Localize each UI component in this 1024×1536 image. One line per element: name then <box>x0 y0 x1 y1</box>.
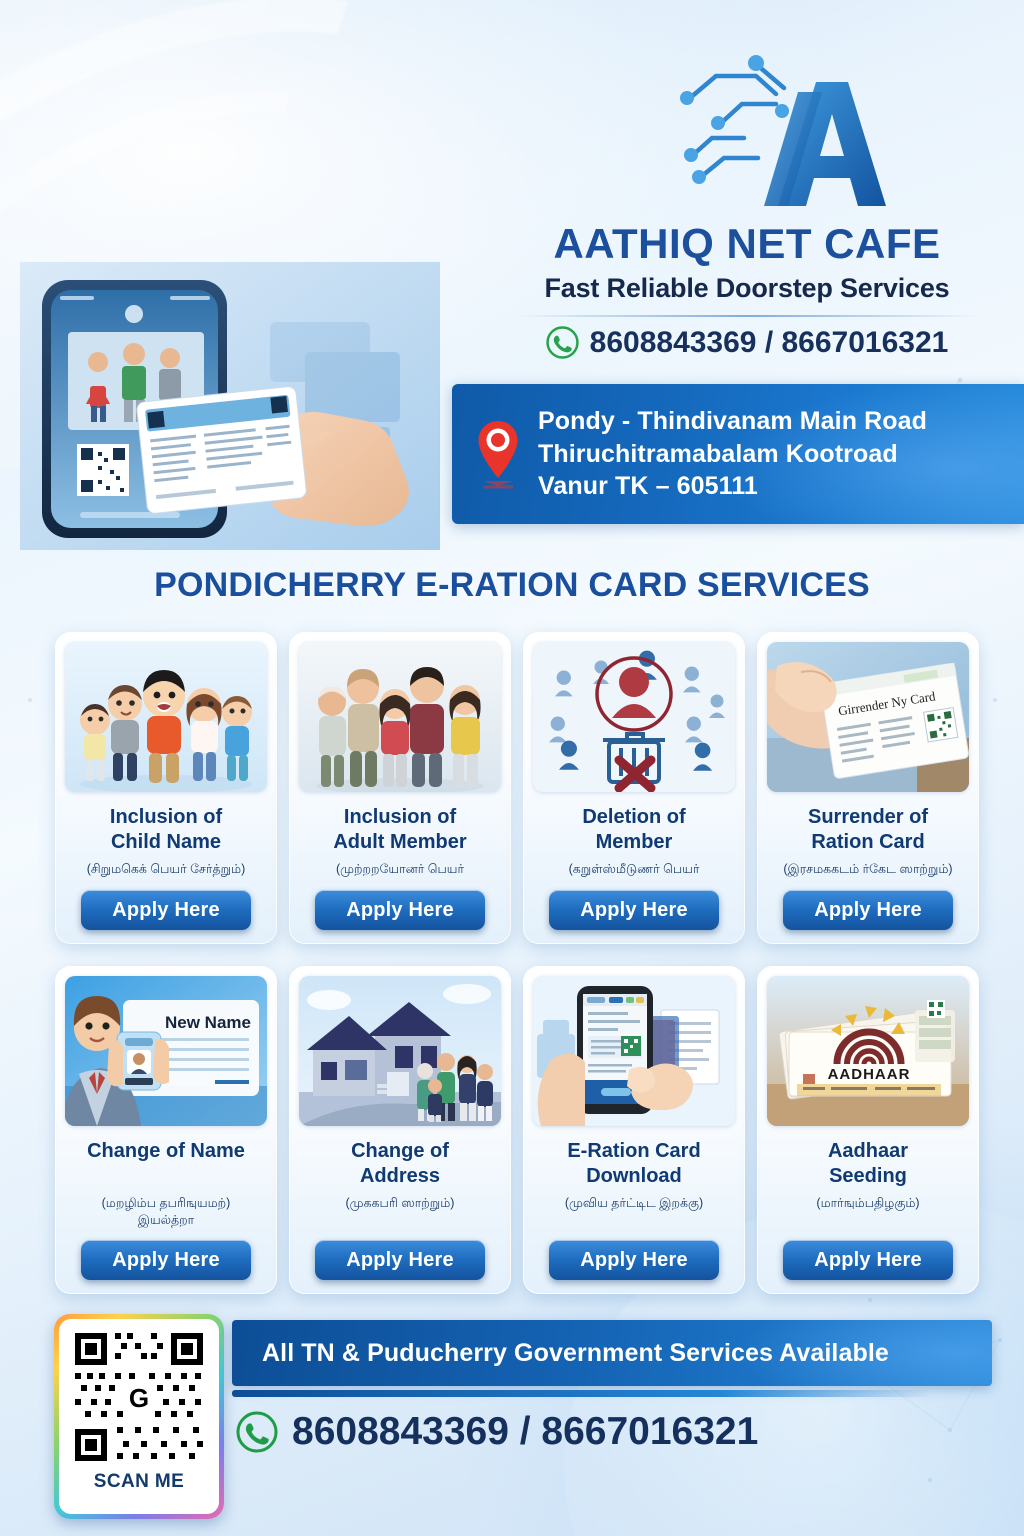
services-row-1: Inclusion of Child Name (சிறுமகெக் பெயர்… <box>55 632 973 944</box>
adult-family-group-image <box>299 642 501 792</box>
circuit-a-logo-icon <box>672 46 902 226</box>
address-band: Pondy - Thindivanam Main Road Thiruchitr… <box>452 384 1024 524</box>
member-deletion-trash-icon-image <box>533 642 735 792</box>
house-with-family-image <box>299 976 501 1126</box>
card-subtitle: (முற்றறயோனர் பெயர் <box>336 861 464 879</box>
poster-root: AATHIQ NET CAFE Fast Reliable Doorstep S… <box>0 0 1024 1536</box>
card-subtitle: (முவிய தர்ட்டிட இறக்கு) <box>565 1195 703 1229</box>
service-card-change-of-address[interactable]: Change of Address (முககபரி ஸாற்றும்) App… <box>289 966 511 1294</box>
whatsapp-icon <box>236 1411 278 1453</box>
footer-phone[interactable]: 8608843369 / 8667016321 <box>236 1410 758 1454</box>
address-line-1: Pondy - Thindivanam Main Road <box>538 405 927 438</box>
card-title: Inclusion of Child Name <box>110 805 222 857</box>
card-subtitle: (கறுள்ஸ்மீடுணர் பெயர் <box>569 861 700 879</box>
card-title-line2: Child Name <box>110 830 222 855</box>
card-title: E-Ration Card Download <box>567 1139 700 1191</box>
header-phone-text: 8608843369 / 8667016321 <box>590 326 949 360</box>
hand-phone-download-document-image <box>533 976 735 1126</box>
card-title-line2: Adult Member <box>333 830 466 855</box>
card-title-line1: Aadhaar <box>828 1139 908 1164</box>
brand-block: AATHIQ NET CAFE Fast Reliable Doorstep S… <box>470 222 1024 360</box>
man-holding-new-name-card-image: New Name <box>65 976 267 1126</box>
qr-code-icon: G <box>69 1327 209 1467</box>
cartoon-children-group-image <box>65 642 267 792</box>
brand-divider <box>512 315 982 317</box>
apply-here-button[interactable]: Apply Here <box>783 890 953 930</box>
section-title: PONDICHERRY E-RATION CARD SERVICES <box>0 566 1024 605</box>
card-title-line1: Inclusion of <box>333 805 466 830</box>
card-title-line2: Ration Card <box>808 830 928 855</box>
service-card-inclusion-adult-member[interactable]: Inclusion of Adult Member (முற்றறயோனர் ப… <box>289 632 511 944</box>
card-subtitle: (மார்ஙும்பதிழகும்) <box>816 1195 919 1229</box>
card-title: Deletion of Member <box>582 805 685 857</box>
card-title-line1: Inclusion of <box>110 805 222 830</box>
apply-here-button[interactable]: Apply Here <box>315 1240 485 1280</box>
card-title: Change of Address <box>351 1139 449 1191</box>
service-card-surrender-ration-card[interactable]: Girrender Ny Card <box>757 632 979 944</box>
brand-name: AATHIQ NET CAFE <box>470 222 1024 267</box>
card-subtitle-line1: (மறழிம்ப தபரிஙுயமற்) <box>102 1195 231 1212</box>
card-title-line1: Deletion of <box>582 805 685 830</box>
address-line-3: Vanur TK – 605111 <box>538 470 927 503</box>
card-subtitle: (இரசமககடம் ர்கேட ஸாற்றும்) <box>783 861 952 879</box>
service-card-aadhaar-seeding[interactable]: AADHAAR Aadhaar Seeding (மார்ஙும்பதிழகும… <box>757 966 979 1294</box>
hand-holding-surrender-card-image: Girrender Ny Card <box>767 642 969 792</box>
svg-text:G: G <box>129 1383 149 1413</box>
apply-here-button[interactable]: Apply Here <box>549 1240 719 1280</box>
card-subtitle: (மறழிம்ப தபரிஙுயமற்) இயல்த்றா <box>102 1195 231 1229</box>
card-title: Surrender of Ration Card <box>808 805 928 857</box>
apply-here-button[interactable]: Apply Here <box>81 890 251 930</box>
service-card-deletion-of-member[interactable]: Deletion of Member (கறுள்ஸ்மீடுணர் பெயர்… <box>523 632 745 944</box>
card-title-line1: Change of <box>351 1139 449 1164</box>
apply-here-button[interactable]: Apply Here <box>315 890 485 930</box>
card-title-line1: Surrender of <box>808 805 928 830</box>
card-title-line1: Change of Name <box>87 1139 245 1164</box>
footer-phone-text: 8608843369 / 8667016321 <box>292 1410 758 1454</box>
apply-here-button[interactable]: Apply Here <box>783 1240 953 1280</box>
whatsapp-icon <box>546 326 579 359</box>
service-card-eration-card-download[interactable]: E-Ration Card Download (முவிய தர்ட்டிட இ… <box>523 966 745 1294</box>
aadhaar-cards-stack-image: AADHAAR <box>767 976 969 1126</box>
scan-me-label: SCAN ME <box>94 1471 184 1493</box>
card-title: Change of Name <box>87 1139 245 1191</box>
address-line-2: Thiruchitramabalam Kootroad <box>538 438 927 471</box>
card-title-line1: E-Ration Card <box>567 1139 700 1164</box>
apply-here-button[interactable]: Apply Here <box>81 1240 251 1280</box>
card-title-line2: Member <box>582 830 685 855</box>
card-title: Inclusion of Adult Member <box>333 805 466 857</box>
brand-tagline: Fast Reliable Doorstep Services <box>470 273 1024 304</box>
poster-header: AATHIQ NET CAFE Fast Reliable Doorstep S… <box>0 0 1024 540</box>
qr-code-card[interactable]: G SCAN ME <box>54 1314 224 1519</box>
card-subtitle: (முககபரி ஸாற்றும்) <box>346 1195 455 1229</box>
hero-image <box>20 262 440 550</box>
service-card-inclusion-child-name[interactable]: Inclusion of Child Name (சிறுமகெக் பெயர்… <box>55 632 277 944</box>
map-pin-icon <box>474 418 522 490</box>
header-phone[interactable]: 8608843369 / 8667016321 <box>470 326 1024 360</box>
card-subtitle: (சிறுமகெக் பெயர் சேர்த்றும்) <box>87 861 246 879</box>
address-text: Pondy - Thindivanam Main Road Thiruchitr… <box>538 405 927 503</box>
apply-here-button[interactable]: Apply Here <box>549 890 719 930</box>
card-title-line2: Seeding <box>828 1164 908 1189</box>
banner-underline <box>232 1390 932 1397</box>
card-title: Aadhaar Seeding <box>828 1139 908 1191</box>
svg-text:AADHAAR: AADHAAR <box>828 1066 911 1083</box>
services-grid: Inclusion of Child Name (சிறுமகெக் பெயர்… <box>55 632 973 1294</box>
services-row-2: New Name <box>55 966 973 1294</box>
card-title-line2: Download <box>567 1164 700 1189</box>
services-banner: All TN & Puducherry Government Services … <box>232 1320 992 1386</box>
card-subtitle-line2: இயல்த்றா <box>102 1212 231 1229</box>
poster-footer: G SCAN ME All TN & Puducherry Government… <box>0 1306 1024 1536</box>
card-title-line2: Address <box>351 1164 449 1189</box>
services-banner-text: All TN & Puducherry Government Services … <box>262 1339 889 1368</box>
svg-text:New Name: New Name <box>165 1013 251 1032</box>
service-card-change-of-name[interactable]: New Name <box>55 966 277 1294</box>
